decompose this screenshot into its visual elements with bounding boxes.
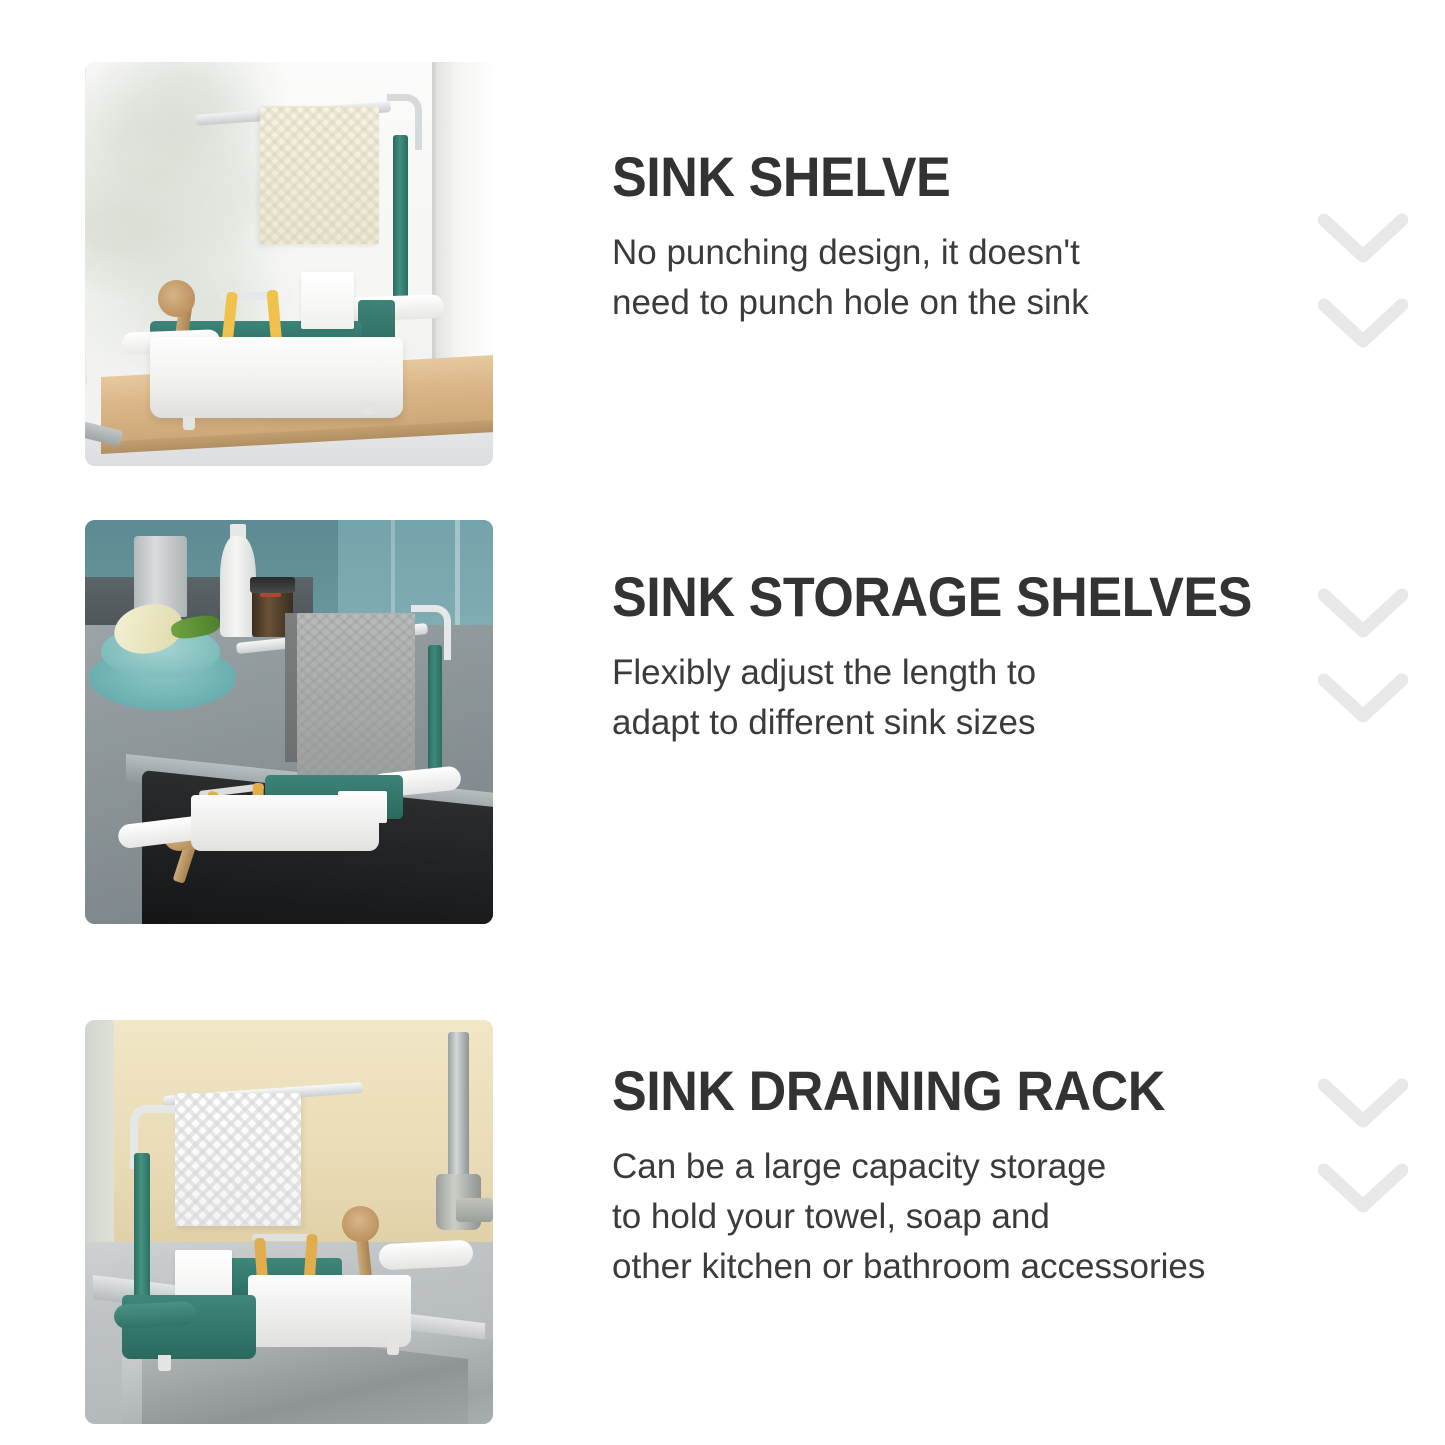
feature-description: Can be a large capacity storage to hold … [612, 1142, 1302, 1292]
chevron-down-icon [1318, 670, 1408, 726]
infographic-page: SINK SHELVE No punching design, it doesn… [0, 0, 1445, 1445]
description-line: need to punch hole on the sink [612, 278, 1302, 328]
description-line: to hold your towel, soap and [612, 1192, 1302, 1242]
chevron-down-icon [1318, 295, 1408, 351]
feature-title: SINK SHELVE [612, 148, 1254, 206]
description-line: adapt to different sink sizes [612, 698, 1302, 748]
product-photo-windowsill [85, 62, 493, 466]
chevron-group [1318, 1075, 1410, 1245]
chevron-group [1318, 210, 1410, 380]
chevron-down-icon [1318, 1160, 1408, 1216]
feature-text-sink-storage-shelves: SINK STORAGE SHELVES Flexibly adjust the… [612, 568, 1302, 748]
description-line: other kitchen or bathroom accessories [612, 1242, 1302, 1292]
feature-text-sink-shelve: SINK SHELVE No punching design, it doesn… [612, 148, 1302, 328]
chevron-down-icon [1318, 1075, 1408, 1131]
description-line: Can be a large capacity storage [612, 1142, 1302, 1192]
feature-description: Flexibly adjust the length to adapt to d… [612, 648, 1302, 748]
product-photo-gray-counter [85, 520, 493, 924]
feature-block-sink-storage-shelves: SINK STORAGE SHELVES Flexibly adjust the… [0, 520, 1445, 926]
chevron-down-icon [1318, 210, 1408, 266]
feature-text-sink-draining-rack: SINK DRAINING RACK Can be a large capaci… [612, 1062, 1302, 1292]
description-line: No punching design, it doesn't [612, 228, 1302, 278]
feature-block-sink-draining-rack: SINK DRAINING RACK Can be a large capaci… [0, 1020, 1445, 1426]
chevron-down-icon [1318, 585, 1408, 641]
product-photo-stainless-sink [85, 1020, 493, 1424]
feature-block-sink-shelve: SINK SHELVE No punching design, it doesn… [0, 62, 1445, 468]
chevron-group [1318, 585, 1410, 755]
feature-title: SINK DRAINING RACK [612, 1062, 1254, 1120]
description-line: Flexibly adjust the length to [612, 648, 1302, 698]
feature-description: No punching design, it doesn't need to p… [612, 228, 1302, 328]
feature-title: SINK STORAGE SHELVES [612, 568, 1254, 626]
